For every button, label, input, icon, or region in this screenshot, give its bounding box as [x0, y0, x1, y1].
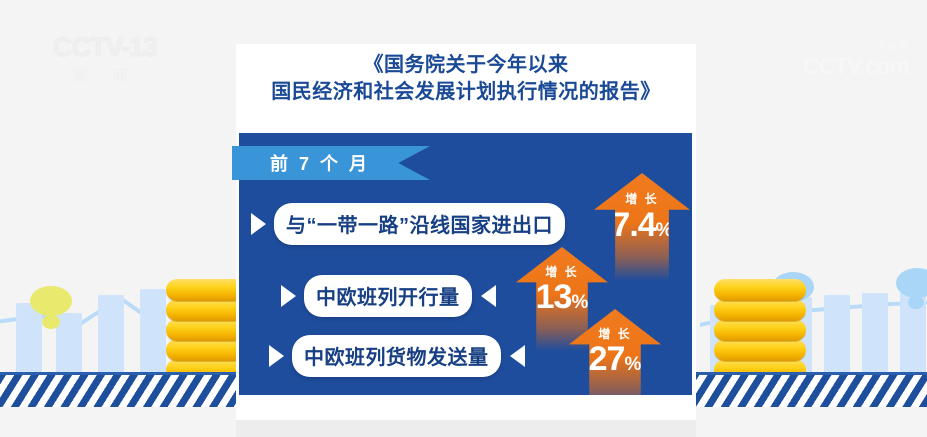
triangle-right-icon-1: [281, 285, 296, 307]
growth-unit-2: %: [624, 354, 641, 375]
cctv-site-name: CCTV.com: [803, 53, 909, 80]
cctv-channel-sub: 新 闻: [40, 65, 170, 86]
stat-row-0[interactable]: 与“一带一路”沿线国家进出口: [251, 203, 565, 245]
growth-number-0: 7.4: [611, 206, 655, 244]
growth-value-1: 13%: [516, 278, 608, 317]
growth-value-0: 7.4%: [594, 206, 690, 245]
cctv-site-watermark: 央视网 CCTV.com: [803, 40, 909, 80]
cctv-channel-name: CCTV-13: [40, 32, 170, 63]
triangle-left-icon-2: [510, 345, 525, 367]
period-ribbon-label: 前 7 个 月: [270, 150, 370, 176]
stat-label-2: 中欧班列货物发送量: [292, 335, 501, 377]
growth-number-1: 13: [536, 278, 572, 316]
stat-label-0: 与“一带一路”沿线国家进出口: [274, 203, 565, 245]
growth-unit-0: %: [656, 220, 673, 241]
growth-arrow-icon-0: 增 长 7.4%: [594, 173, 690, 281]
cctv-site-sub: 央视网: [803, 38, 909, 53]
growth-label-0: 增 长: [594, 190, 690, 207]
background-blob-yellow: [30, 286, 72, 316]
growth-unit-1: %: [571, 292, 588, 313]
page-title: 《国务院关于今年以来 国民经济和社会发展计划执行情况的报告》: [236, 52, 696, 106]
stat-row-2[interactable]: 中欧班列货物发送量: [269, 335, 525, 377]
triangle-right-icon-2: [269, 345, 284, 367]
page-title-line1: 《国务院关于今年以来: [236, 52, 696, 79]
stat-row-1[interactable]: 中欧班列开行量: [281, 275, 496, 317]
stat-label-1: 中欧班列开行量: [304, 275, 472, 317]
triangle-left-icon-1: [481, 285, 496, 307]
content-card-secondary: [236, 420, 696, 437]
triangle-right-icon-0: [251, 213, 266, 235]
page-title-line2: 国民经济和社会发展计划执行情况的报告》: [236, 79, 696, 106]
background-dot-blue-2: [908, 296, 924, 309]
growth-number-2: 27: [589, 340, 625, 378]
background-dot-yellow: [42, 315, 60, 329]
cctv-channel-watermark: CCTV-13 新 闻: [40, 32, 170, 86]
